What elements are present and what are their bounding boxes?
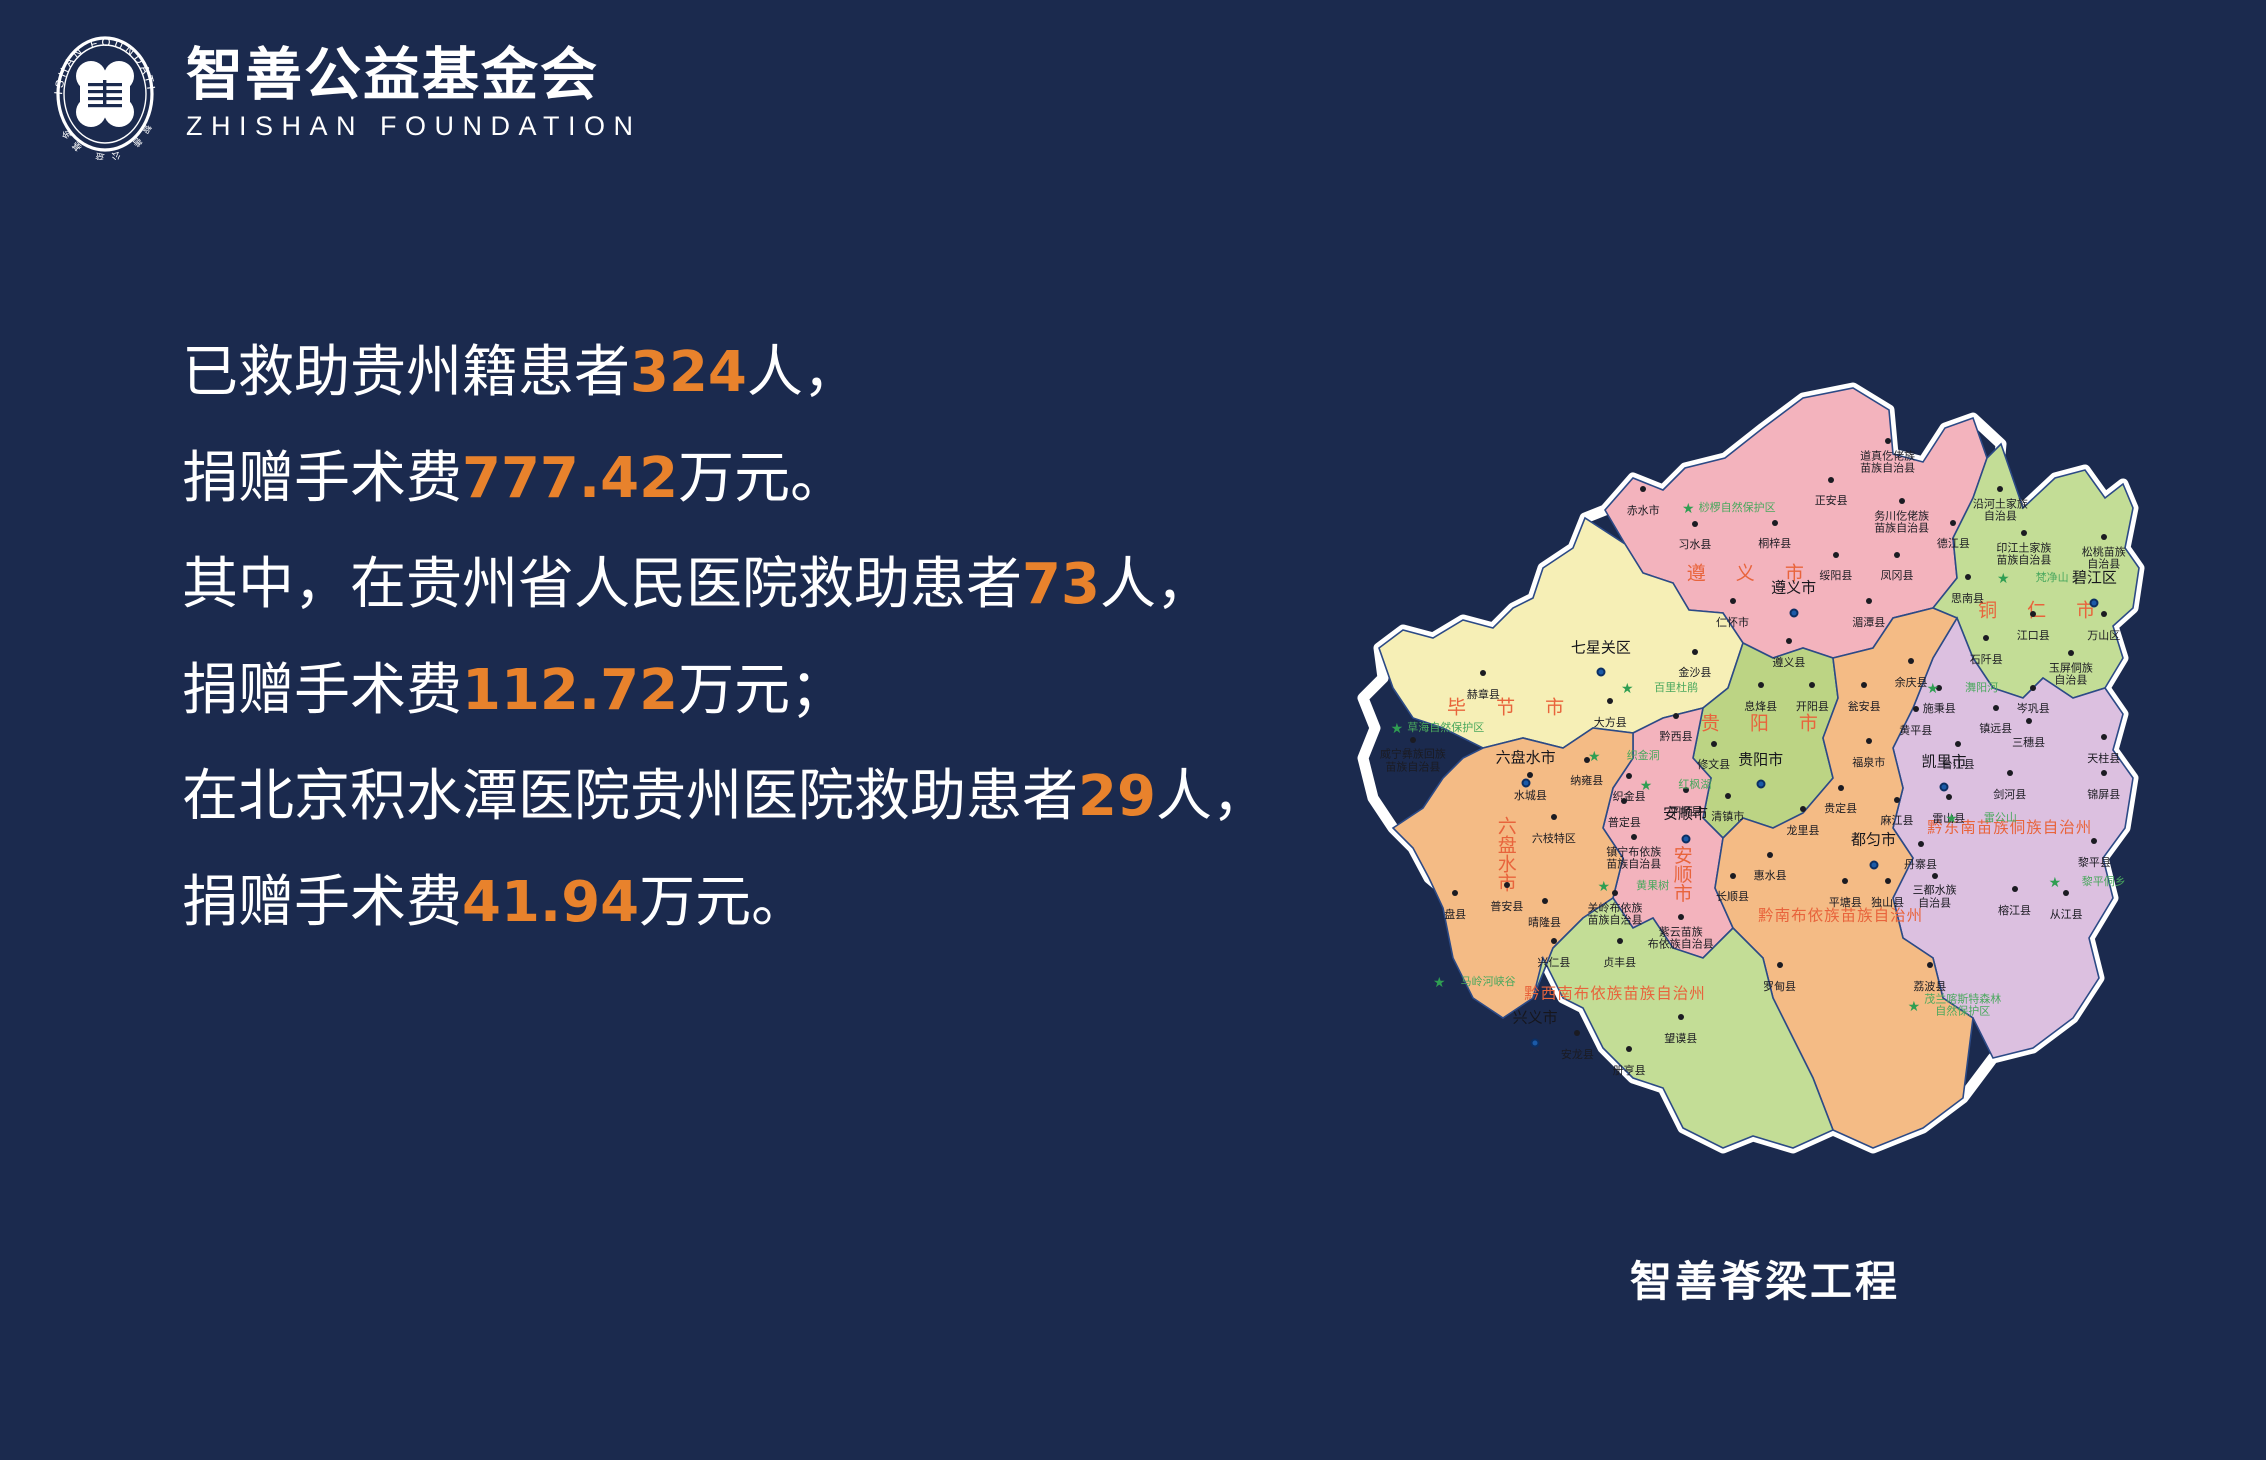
scenic-star-icon: ★ <box>1997 571 2010 585</box>
copy-line-pre: 捐赠手术费 <box>182 446 462 511</box>
map-county-dot <box>1640 486 1646 492</box>
copy-line: 捐赠手术费777.42万元。 <box>182 426 1362 532</box>
scenic-star-icon: ★ <box>1908 999 1921 1013</box>
map-county-dot <box>2101 534 2107 540</box>
map-county-dot <box>1725 793 1731 799</box>
map-county-dot <box>1983 635 1989 641</box>
zhishan-seal-logo-icon: ZHISHAN FOUNDATION 智善 公益 基金 <box>46 28 164 160</box>
map-county-dot <box>1617 938 1623 944</box>
map-county-dot <box>1899 498 1905 504</box>
map-capital-dot <box>1940 782 1949 791</box>
brand-name-en: ZHISHAN FOUNDATION <box>186 111 642 142</box>
copy-line-pre: 已救助贵州籍患者 <box>182 340 630 405</box>
map-capital-dot <box>1531 1038 1540 1047</box>
program-caption: 智善脊梁工程 <box>1630 1248 1900 1309</box>
copy-line-pre: 捐赠手术费 <box>182 870 462 935</box>
copy-line: 捐赠手术费41.94万元。 <box>182 850 1362 956</box>
map-county-dot <box>1993 705 1999 711</box>
copy-line-number: 112.72 <box>462 658 678 723</box>
map-county-dot <box>1730 598 1736 604</box>
map-county-dot <box>2007 770 2013 776</box>
map-county-dot <box>1574 1030 1580 1036</box>
map-county-dot <box>2026 718 2032 724</box>
map-county-dot <box>1730 873 1736 879</box>
map-capital-dot <box>1596 668 1605 677</box>
scenic-star-icon: ★ <box>1682 501 1695 515</box>
map-capital-dot <box>2090 598 2099 607</box>
map-county-dot <box>1866 598 1872 604</box>
map-county-dot <box>1908 658 1914 664</box>
map-county-dot <box>1885 438 1891 444</box>
map-county-dot <box>1833 552 1839 558</box>
map-capital-dot <box>1756 780 1765 789</box>
map-county-dot <box>1866 738 1872 744</box>
map-county-dot <box>1927 962 1933 968</box>
map-county-dot <box>2068 650 2074 656</box>
map-county-dot <box>1607 698 1613 704</box>
copy-line-post: 人， <box>1156 764 1268 829</box>
statistics-copy-block: 已救助贵州籍患者324人， 捐赠手术费777.42万元。 其中，在贵州省人民医院… <box>182 320 1362 956</box>
scenic-star-icon: ★ <box>1588 749 1601 763</box>
copy-line-post: 万元。 <box>639 870 807 935</box>
map-county-dot <box>1758 682 1764 688</box>
scenic-star-icon: ★ <box>2049 875 2062 889</box>
map-county-dot <box>1626 773 1632 779</box>
brand-wordmark: 智善公益基金会 ZHISHAN FOUNDATION <box>186 46 642 143</box>
map-county-dot <box>1551 814 1557 820</box>
brand-name-cn: 智善公益基金会 <box>186 46 642 106</box>
map-county-dot <box>1527 772 1533 778</box>
map-county-dot <box>1711 741 1717 747</box>
map-capital-dot <box>1681 834 1690 843</box>
map-county-dot <box>1777 962 1783 968</box>
map-county-dot <box>1692 649 1698 655</box>
map-county-dot <box>1673 713 1679 719</box>
map-county-dot <box>1918 841 1924 847</box>
map-county-dot <box>2063 890 2069 896</box>
map-county-dot <box>2101 770 2107 776</box>
map-county-dot <box>1800 806 1806 812</box>
map-county-dot <box>1678 1014 1684 1020</box>
map-county-dot <box>1631 834 1637 840</box>
map-county-dot <box>1965 574 1971 580</box>
map-county-dot <box>1772 520 1778 526</box>
map-county-dot <box>2030 685 2036 691</box>
map-capital-dot <box>1521 778 1530 787</box>
map-county-dot <box>2101 611 2107 617</box>
guizhou-province-map: 遵 义 市 铜 仁 市 毕 节 市 贵 阳 市 黔东南苗族侗族自治州 黔南布依族… <box>1333 358 2266 1158</box>
map-county-dot <box>1621 798 1627 804</box>
scenic-star-icon: ★ <box>1621 681 1634 695</box>
scenic-star-icon: ★ <box>1640 778 1653 792</box>
copy-line-post: 万元； <box>678 658 846 723</box>
svg-text:智善 公益 基金: 智善 公益 基金 <box>56 122 154 160</box>
copy-line-number: 324 <box>630 340 747 405</box>
map-capital-dot <box>1869 861 1878 870</box>
copy-line-pre: 其中，在贵州省人民医院救助患者 <box>182 552 1022 617</box>
map-county-dot <box>1551 938 1557 944</box>
map-county-dot <box>1913 706 1919 712</box>
map-capital-dot <box>1789 609 1798 618</box>
map-county-dot <box>1894 552 1900 558</box>
map-county-dot <box>1809 682 1815 688</box>
map-county-dot <box>1504 882 1510 888</box>
map-county-dot <box>1786 638 1792 644</box>
map-county-dot <box>1955 741 1961 747</box>
map-county-dot <box>1950 520 1956 526</box>
map-county-dot <box>1678 914 1684 920</box>
map-county-dot <box>1861 682 1867 688</box>
brand-logo-block: ZHISHAN FOUNDATION 智善 公益 基金 智善公益基金会 ZHIS… <box>46 28 642 160</box>
map-county-dot <box>1885 878 1891 884</box>
map-county-dot <box>1894 797 1900 803</box>
copy-line-number: 41.94 <box>462 870 639 935</box>
map-county-dot <box>1997 486 2003 492</box>
map-shapes <box>1333 358 2266 1158</box>
map-county-dot <box>1767 852 1773 858</box>
copy-line-pre: 捐赠手术费 <box>182 658 462 723</box>
map-county-dot <box>2030 611 2036 617</box>
map-county-dot <box>1452 890 1458 896</box>
map-county-dot <box>1932 873 1938 879</box>
map-county-dot <box>2012 886 2018 892</box>
copy-line: 其中，在贵州省人民医院救助患者73人， <box>182 532 1362 638</box>
map-county-dot <box>1692 521 1698 527</box>
copy-line: 已救助贵州籍患者324人， <box>182 320 1362 426</box>
map-county-dot <box>2101 734 2107 740</box>
copy-line: 在北京积水潭医院贵州医院救助患者29人， <box>182 744 1362 850</box>
map-county-dot <box>1828 477 1834 483</box>
copy-line-pre: 在北京积水潭医院贵州医院救助患者 <box>182 764 1078 829</box>
copy-line: 捐赠手术费112.72万元； <box>182 638 1362 744</box>
map-county-dot <box>1626 1046 1632 1052</box>
scenic-star-icon: ★ <box>1926 681 1939 695</box>
map-county-dot <box>1842 878 1848 884</box>
map-county-dot <box>1542 898 1548 904</box>
copy-line-number: 777.42 <box>462 446 678 511</box>
map-county-dot <box>1410 737 1416 743</box>
map-county-dot <box>2091 838 2097 844</box>
copy-line-post: 人， <box>1100 552 1212 617</box>
map-county-dot <box>1946 794 1952 800</box>
map-county-dot <box>1480 670 1486 676</box>
scenic-star-icon: ★ <box>1433 975 1446 989</box>
scenic-star-icon: ★ <box>1945 811 1958 825</box>
map-county-dot <box>1612 890 1618 896</box>
copy-line-post: 万元。 <box>678 446 846 511</box>
copy-line-number: 29 <box>1078 764 1156 829</box>
map-county-dot <box>1683 787 1689 793</box>
map-county-dot <box>1838 785 1844 791</box>
scenic-star-icon: ★ <box>1597 879 1610 893</box>
map-county-dot <box>2021 530 2027 536</box>
scenic-star-icon: ★ <box>1391 721 1404 735</box>
copy-line-number: 73 <box>1022 552 1100 617</box>
copy-line-post: 人， <box>747 340 859 405</box>
